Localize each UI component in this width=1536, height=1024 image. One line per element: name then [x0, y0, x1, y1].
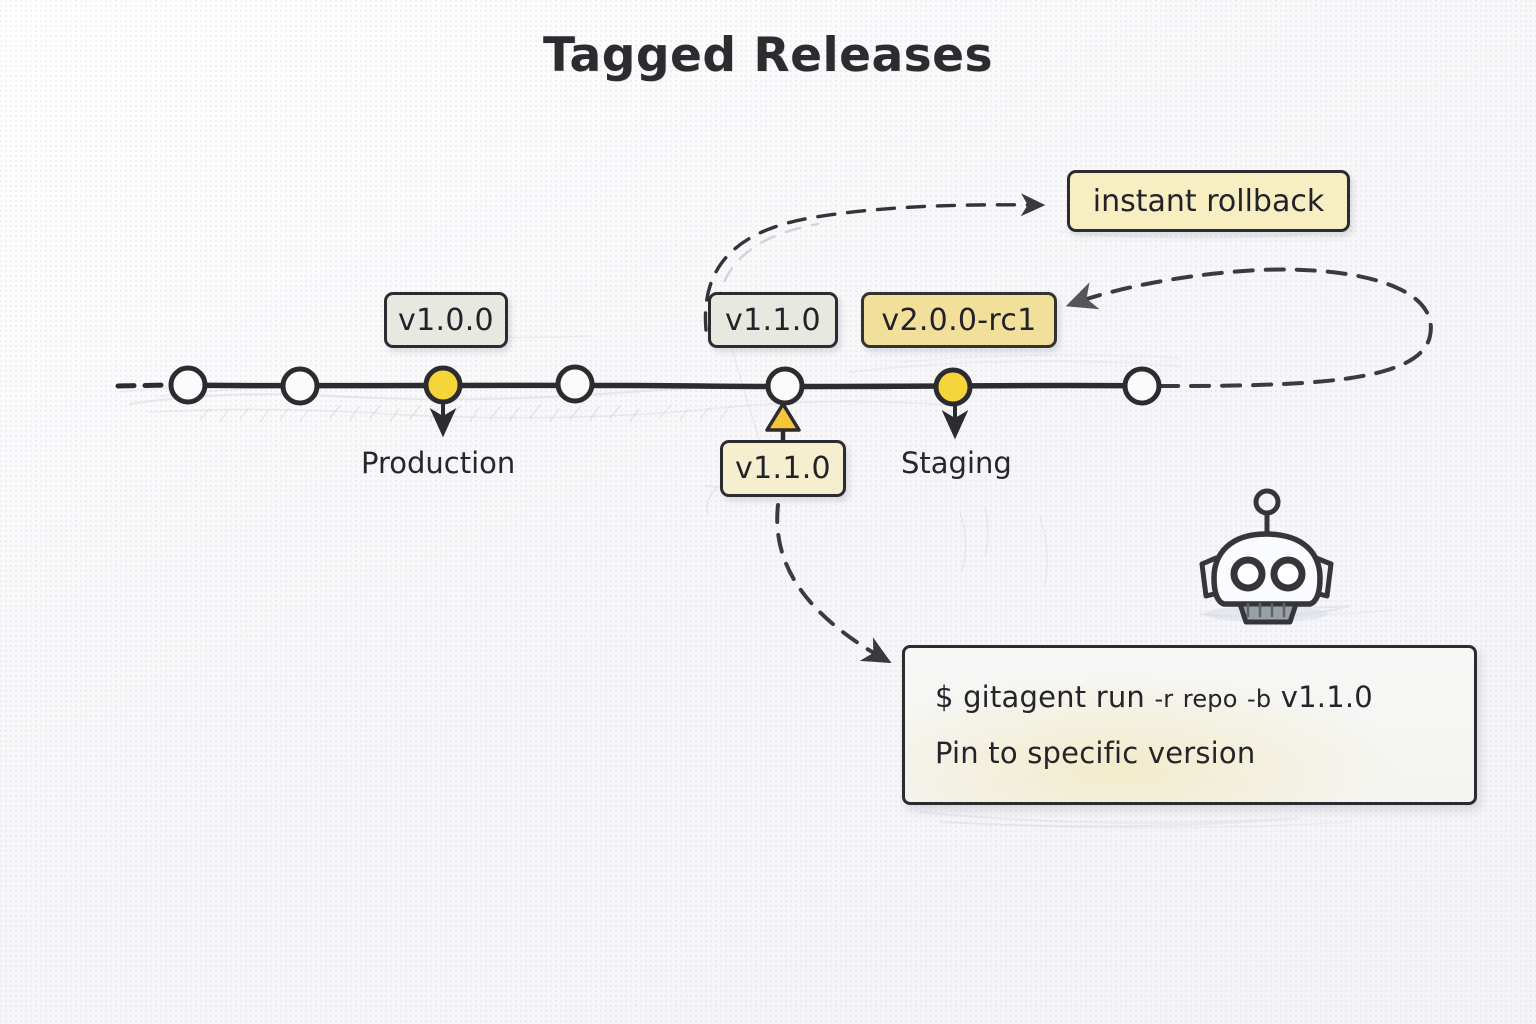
robot-layer: [0, 0, 1536, 1024]
command-verb: run: [1096, 680, 1145, 714]
command-program: gitagent: [963, 680, 1086, 714]
robot-eye-right: [1274, 560, 1302, 588]
command-caption: Pin to specific version: [935, 736, 1444, 770]
robot-eye-left: [1234, 560, 1262, 588]
robot-antenna-icon: [1256, 491, 1278, 513]
diagram-canvas: Tagged Releases: [0, 0, 1536, 1024]
robot-mascot: [1202, 491, 1331, 622]
command-box[interactable]: $ gitagent run -r repo -b v1.1.0 Pin to …: [902, 645, 1477, 805]
command-flag-repo: -r: [1154, 685, 1173, 713]
command-branch-value: v1.1.0: [1281, 680, 1373, 714]
command-flag-branch: -b: [1247, 685, 1271, 713]
command-repo-value: repo: [1183, 685, 1238, 713]
command-line: $ gitagent run -r repo -b v1.1.0: [935, 680, 1444, 714]
command-prompt: $: [935, 680, 954, 714]
